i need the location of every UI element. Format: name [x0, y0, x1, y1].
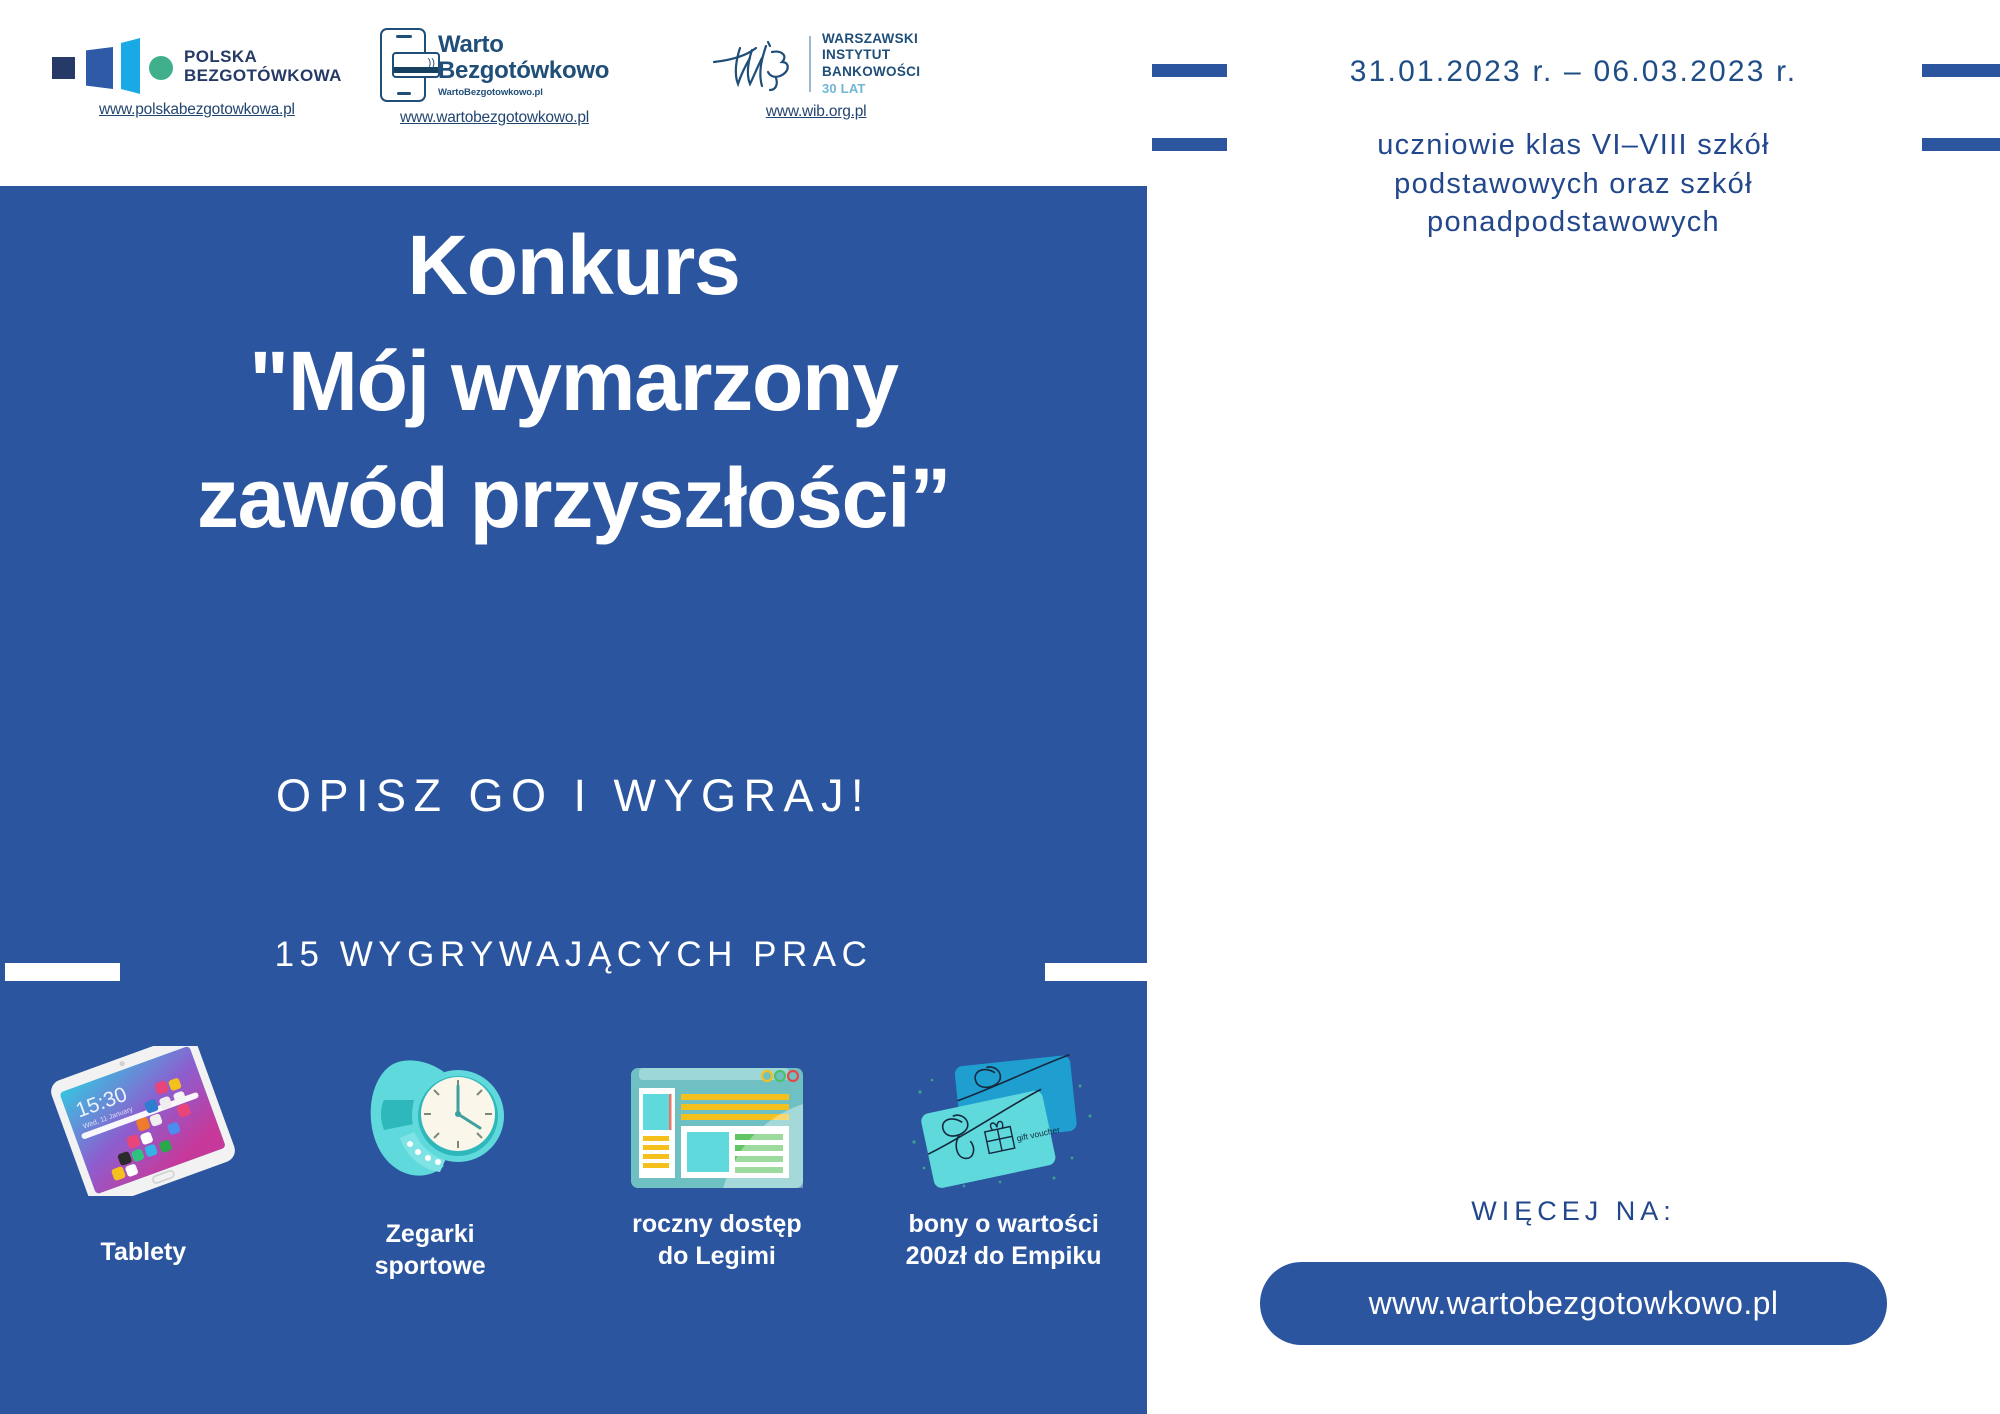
prize-label-line-2: sportowe	[375, 1250, 486, 1282]
prizes-row: 15:30 Wed, 11 January	[0, 1046, 1147, 1386]
website-cta-button[interactable]: www.wartobezgotowkowo.pl	[1260, 1262, 1887, 1345]
logo-wib[interactable]: WARSZAWSKI INSTYTUT BANKOWOŚCI 30 LAT ww…	[712, 32, 920, 121]
poster-root: POLSKA BEZGOTÓWKOWA www.polskabezgotowko…	[0, 0, 2000, 1414]
mark-bar-cyan	[121, 38, 140, 94]
browser-window-icon	[617, 1046, 817, 1196]
pb-line1: POLSKA	[184, 47, 342, 66]
prize-label-line-1: Zegarki	[375, 1218, 486, 1250]
prize-item-tablety: 15:30 Wed, 11 January	[18, 1046, 268, 1268]
prize-item-bony-empik: gift voucher bony o wartości 200zł do Em…	[879, 1046, 1129, 1272]
gift-voucher-art: gift voucher	[904, 1046, 1104, 1196]
title-line-1: Konkurs	[0, 212, 1147, 320]
prize-label-line-2: 200zł do Empiku	[906, 1240, 1102, 1272]
warto-bezgotowkowo-url[interactable]: www.wartobezgotowkowo.pl	[400, 109, 589, 127]
title-line-2: "Mój wymarzony	[0, 320, 1147, 443]
warto-bezgotowkowo-icon: )) Warto Bezgotówkowo WartoBezgotowkowo.…	[380, 28, 609, 102]
logo-polska-bezgotowkowa[interactable]: POLSKA BEZGOTÓWKOWA www.polskabezgotowko…	[52, 38, 342, 119]
tablet-icon: 15:30 Wed, 11 January	[28, 1046, 258, 1196]
target-line-1: uczniowie klas VI–VIII szkół	[1202, 126, 1945, 165]
warto-bezgotowkowo-wordmark: Warto Bezgotówkowo WartoBezgotowkowo.pl	[438, 32, 609, 97]
contest-subtitle: OPISZ GO I WYGRAJ!	[0, 770, 1147, 822]
wib-line2: INSTYTUT	[822, 47, 920, 64]
date-range: 31.01.2023 r. – 06.03.2023 r.	[1147, 55, 2000, 89]
wib-icon: WARSZAWSKI INSTYTUT BANKOWOŚCI 30 LAT	[712, 32, 920, 96]
prize-label-line-1: roczny dostęp	[632, 1208, 801, 1240]
prize-label-zegarki-sportowe: Zegarki sportowe	[375, 1218, 486, 1282]
prize-label-bony-empik: bony o wartości 200zł do Empiku	[906, 1208, 1102, 1272]
wib-url[interactable]: www.wib.org.pl	[766, 103, 867, 121]
wib-line3: BANKOWOŚCI	[822, 64, 920, 81]
polska-bezgotowkowa-mark	[52, 38, 170, 94]
prize-label-legimi: roczny dostęp do Legimi	[632, 1208, 801, 1272]
target-line-3: ponadpodstawowych	[1202, 203, 1945, 242]
sportwatch-art	[340, 1046, 520, 1196]
mark-dot-green	[149, 56, 173, 80]
prize-item-legimi: roczny dostęp do Legimi	[592, 1046, 842, 1272]
polska-bezgotowkowa-wordmark: POLSKA BEZGOTÓWKOWA	[184, 47, 342, 85]
phone-card-icon: ))	[380, 28, 426, 102]
contest-title: Konkurs "Mój wymarzony zawód przyszłości…	[0, 212, 1147, 555]
pb-line2: BEZGOTÓWKOWA	[184, 66, 342, 85]
card-icon: ))	[392, 52, 440, 78]
prize-label-tablety: Tablety	[101, 1236, 187, 1268]
wib-line1: WARSZAWSKI	[822, 31, 920, 48]
contactless-icon: ))	[428, 58, 435, 69]
tablet-art: 15:30 Wed, 11 January	[28, 1046, 258, 1196]
gift-voucher-icon: gift voucher	[904, 1046, 1104, 1196]
wb-line2: Bezgotówkowo	[438, 58, 609, 83]
logo-bar: POLSKA BEZGOTÓWKOWA www.polskabezgotowko…	[0, 0, 1147, 186]
mark-square	[52, 57, 75, 79]
target-line-2: podstawowych oraz szkół	[1202, 165, 1945, 204]
logo-warto-bezgotowkowo[interactable]: )) Warto Bezgotówkowo WartoBezgotowkowo.…	[380, 28, 609, 127]
website-cta-url: www.wartobezgotowkowo.pl	[1369, 1285, 1779, 1322]
winners-count: 15 WYGRYWAJĄCYCH PRAC	[0, 935, 1147, 975]
wib-signature-icon	[712, 32, 798, 96]
wib-line4: 30 LAT	[822, 81, 920, 97]
prize-item-zegarki-sportowe: Zegarki sportowe	[305, 1046, 555, 1282]
more-info-label: WIĘCEJ NA:	[1147, 1196, 2000, 1227]
polska-bezgotowkowa-url[interactable]: www.polskabezgotowkowa.pl	[99, 101, 295, 119]
prize-label-line-2: do Legimi	[632, 1240, 801, 1272]
mark-bar-navy	[86, 47, 113, 89]
sportwatch-icon	[340, 1046, 520, 1196]
polska-bezgotowkowa-icon: POLSKA BEZGOTÓWKOWA	[52, 38, 342, 94]
wib-divider	[809, 36, 811, 92]
wib-wordmark: WARSZAWSKI INSTYTUT BANKOWOŚCI 30 LAT	[822, 31, 920, 98]
wb-line1: Warto	[438, 32, 609, 57]
right-column: 31.01.2023 r. – 06.03.2023 r. uczniowie …	[1147, 0, 2000, 1414]
wb-line3: WartoBezgotowkowo.pl	[438, 88, 609, 98]
prize-label-line-1: bony o wartości	[906, 1208, 1102, 1240]
title-line-3: zawód przyszłości”	[0, 442, 1147, 555]
browser-window-art	[617, 1046, 817, 1196]
target-audience: uczniowie klas VI–VIII szkół podstawowyc…	[1202, 126, 1945, 242]
